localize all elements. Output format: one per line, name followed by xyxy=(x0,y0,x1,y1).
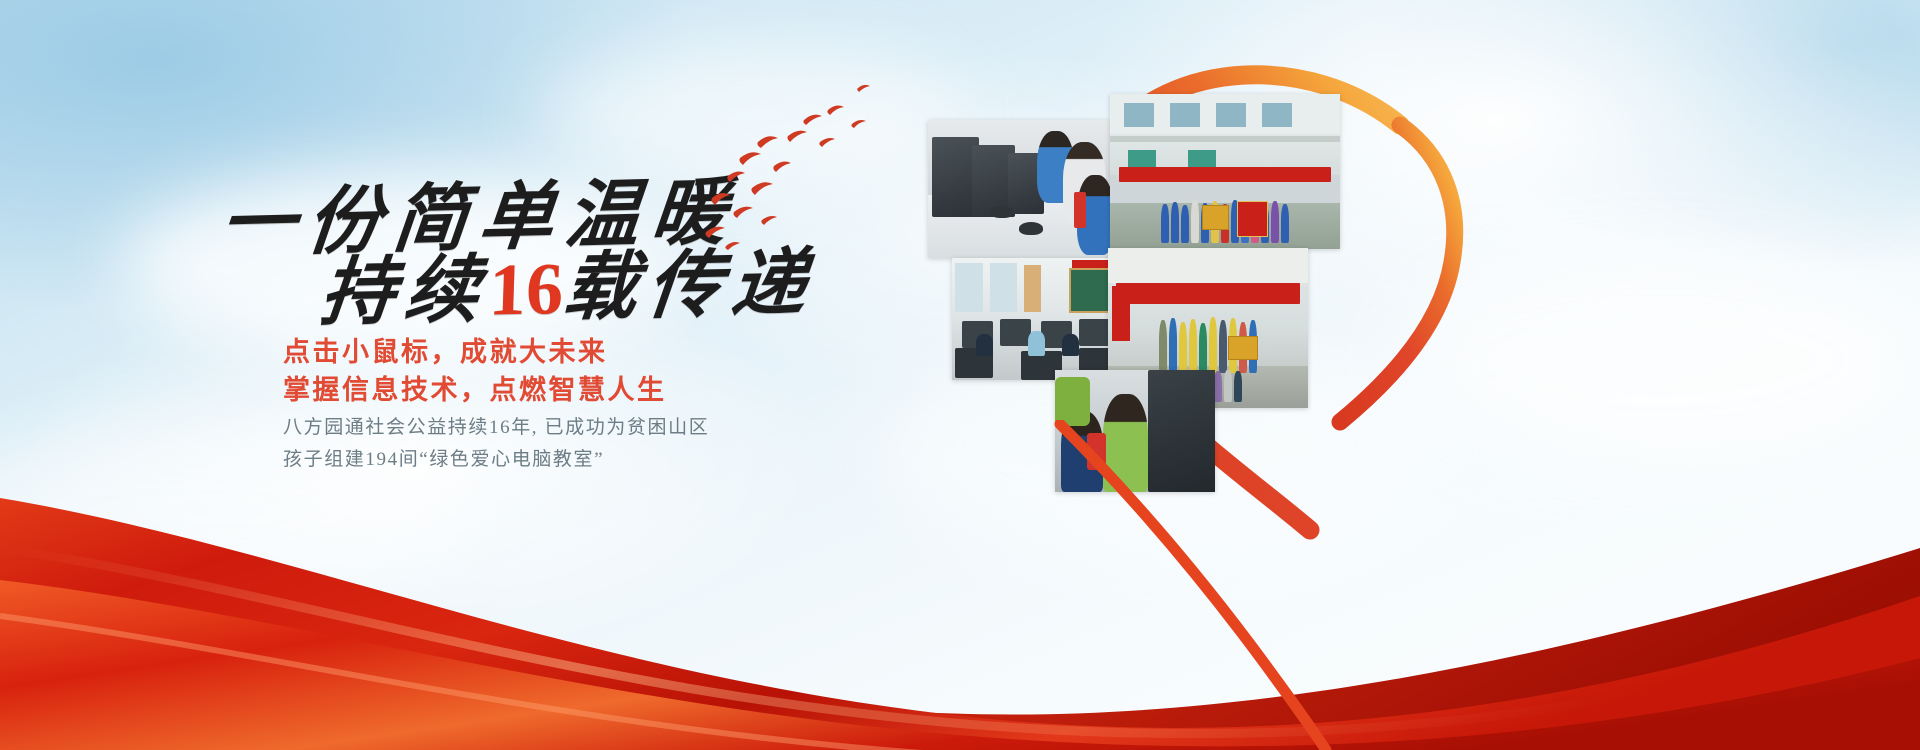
headline-prefix: 持续 xyxy=(316,250,493,336)
red-silk-ribbon-icon xyxy=(0,420,1920,750)
slogan-line-2: 掌握信息技术，点燃智慧人生 xyxy=(283,368,667,407)
ribbon-tail xyxy=(1060,424,1326,750)
wave-svg xyxy=(0,420,1920,750)
photo-children-at-computers[interactable] xyxy=(928,120,1110,258)
photo-computer-classroom[interactable] xyxy=(952,258,1124,380)
slogan-line-1: 点击小鼠标，成就大未来 xyxy=(283,330,608,369)
headline-years-number: 16 xyxy=(488,247,565,333)
photo-school-donation-ceremony[interactable] xyxy=(1110,94,1340,249)
charity-banner: 一份简单温暖 持续16载传递 点击小鼠标，成就大未来 掌握信息技术，点燃智慧人生… xyxy=(0,0,1920,750)
